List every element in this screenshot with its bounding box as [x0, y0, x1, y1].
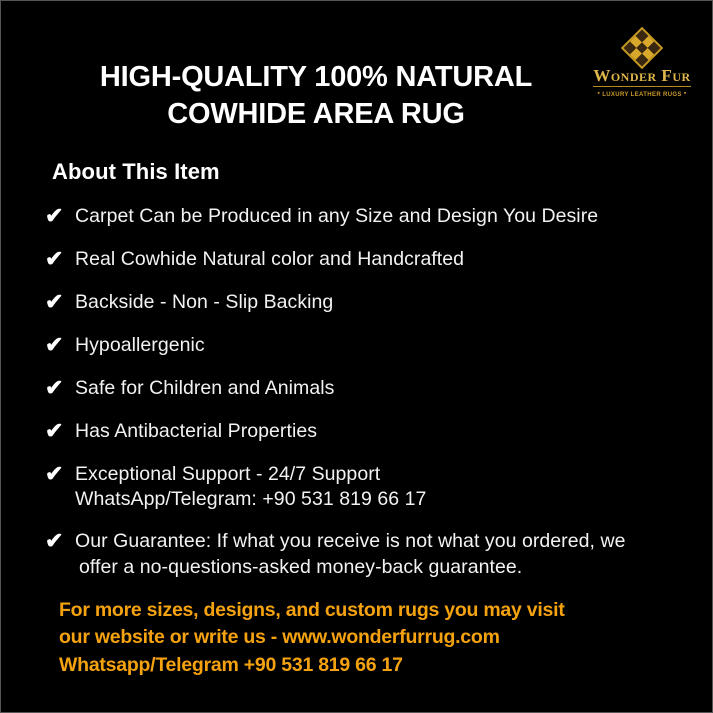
- list-item: ✔ Our Guarantee: If what you receive is …: [45, 529, 685, 581]
- brand-logo: Wonder Fur ▪ LUXURY LEATHER RUGS ▪: [583, 28, 701, 102]
- check-icon: ✔: [45, 529, 75, 552]
- logo-tagline-text: LUXURY LEATHER RUGS: [602, 92, 682, 98]
- product-infographic: Wonder Fur ▪ LUXURY LEATHER RUGS ▪ HIGH-…: [0, 0, 713, 713]
- footer-line-3: Whatsapp/Telegram +90 531 819 66 17: [59, 652, 565, 679]
- logo-brand-name: Wonder Fur: [593, 67, 690, 87]
- check-icon: ✔: [45, 290, 75, 313]
- check-icon: ✔: [45, 333, 75, 356]
- footer-contact-block: For more sizes, designs, and custom rugs…: [59, 597, 565, 679]
- list-item-label: Our Guarantee: If what you receive is no…: [75, 529, 685, 581]
- feature-list: ✔ Carpet Can be Produced in any Size and…: [45, 204, 685, 597]
- list-item-label-line-2: offer a no-questions-asked money-back gu…: [75, 555, 685, 581]
- list-item: ✔ Hypoallergenic: [45, 333, 685, 359]
- list-item: ✔ Carpet Can be Produced in any Size and…: [45, 204, 685, 230]
- logo-diamond-icon: [583, 28, 701, 68]
- footer-line-1: For more sizes, designs, and custom rugs…: [59, 597, 565, 624]
- list-item-label-line-1: Our Guarantee: If what you receive is no…: [75, 530, 625, 552]
- list-item: ✔ Backside - Non - Slip Backing: [45, 290, 685, 316]
- list-item-label: Carpet Can be Produced in any Size and D…: [75, 204, 685, 230]
- list-item-label: Hypoallergenic: [75, 333, 685, 359]
- list-item: ✔ Exceptional Support - 24/7 Support Wha…: [45, 462, 685, 514]
- list-item: ✔ Safe for Children and Animals: [45, 376, 685, 402]
- footer-line-2: our website or write us - www.wonderfurr…: [59, 624, 565, 651]
- list-item: ✔ Has Antibacterial Properties: [45, 419, 685, 445]
- list-item-label-line-1: Exceptional Support - 24/7 Support: [75, 463, 380, 485]
- logo-bullet-right: ▪: [684, 90, 687, 97]
- page-title-line-1: HIGH-QUALITY 100% NATURAL: [61, 59, 571, 96]
- check-icon: ✔: [45, 204, 75, 227]
- check-icon: ✔: [45, 376, 75, 399]
- check-icon: ✔: [45, 419, 75, 442]
- logo-bullet-left: ▪: [597, 90, 600, 97]
- list-item-label: Real Cowhide Natural color and Handcraft…: [75, 247, 685, 273]
- page-title-line-2: COWHIDE AREA RUG: [61, 96, 571, 133]
- list-item-label: Exceptional Support - 24/7 Support Whats…: [75, 462, 685, 514]
- list-item-label-line-2: WhatsApp/Telegram: +90 531 819 66 17: [75, 487, 685, 513]
- page-title: HIGH-QUALITY 100% NATURAL COWHIDE AREA R…: [61, 59, 571, 133]
- list-item-label: Backside - Non - Slip Backing: [75, 290, 685, 316]
- list-item-label: Safe for Children and Animals: [75, 376, 685, 402]
- check-icon: ✔: [45, 247, 75, 270]
- list-item-label: Has Antibacterial Properties: [75, 419, 685, 445]
- section-heading-about-this-item: About This Item: [52, 159, 220, 185]
- check-icon: ✔: [45, 462, 75, 485]
- list-item: ✔ Real Cowhide Natural color and Handcra…: [45, 247, 685, 273]
- logo-tagline: ▪ LUXURY LEATHER RUGS ▪: [583, 90, 701, 98]
- diamond-pattern-icon: [621, 27, 663, 69]
